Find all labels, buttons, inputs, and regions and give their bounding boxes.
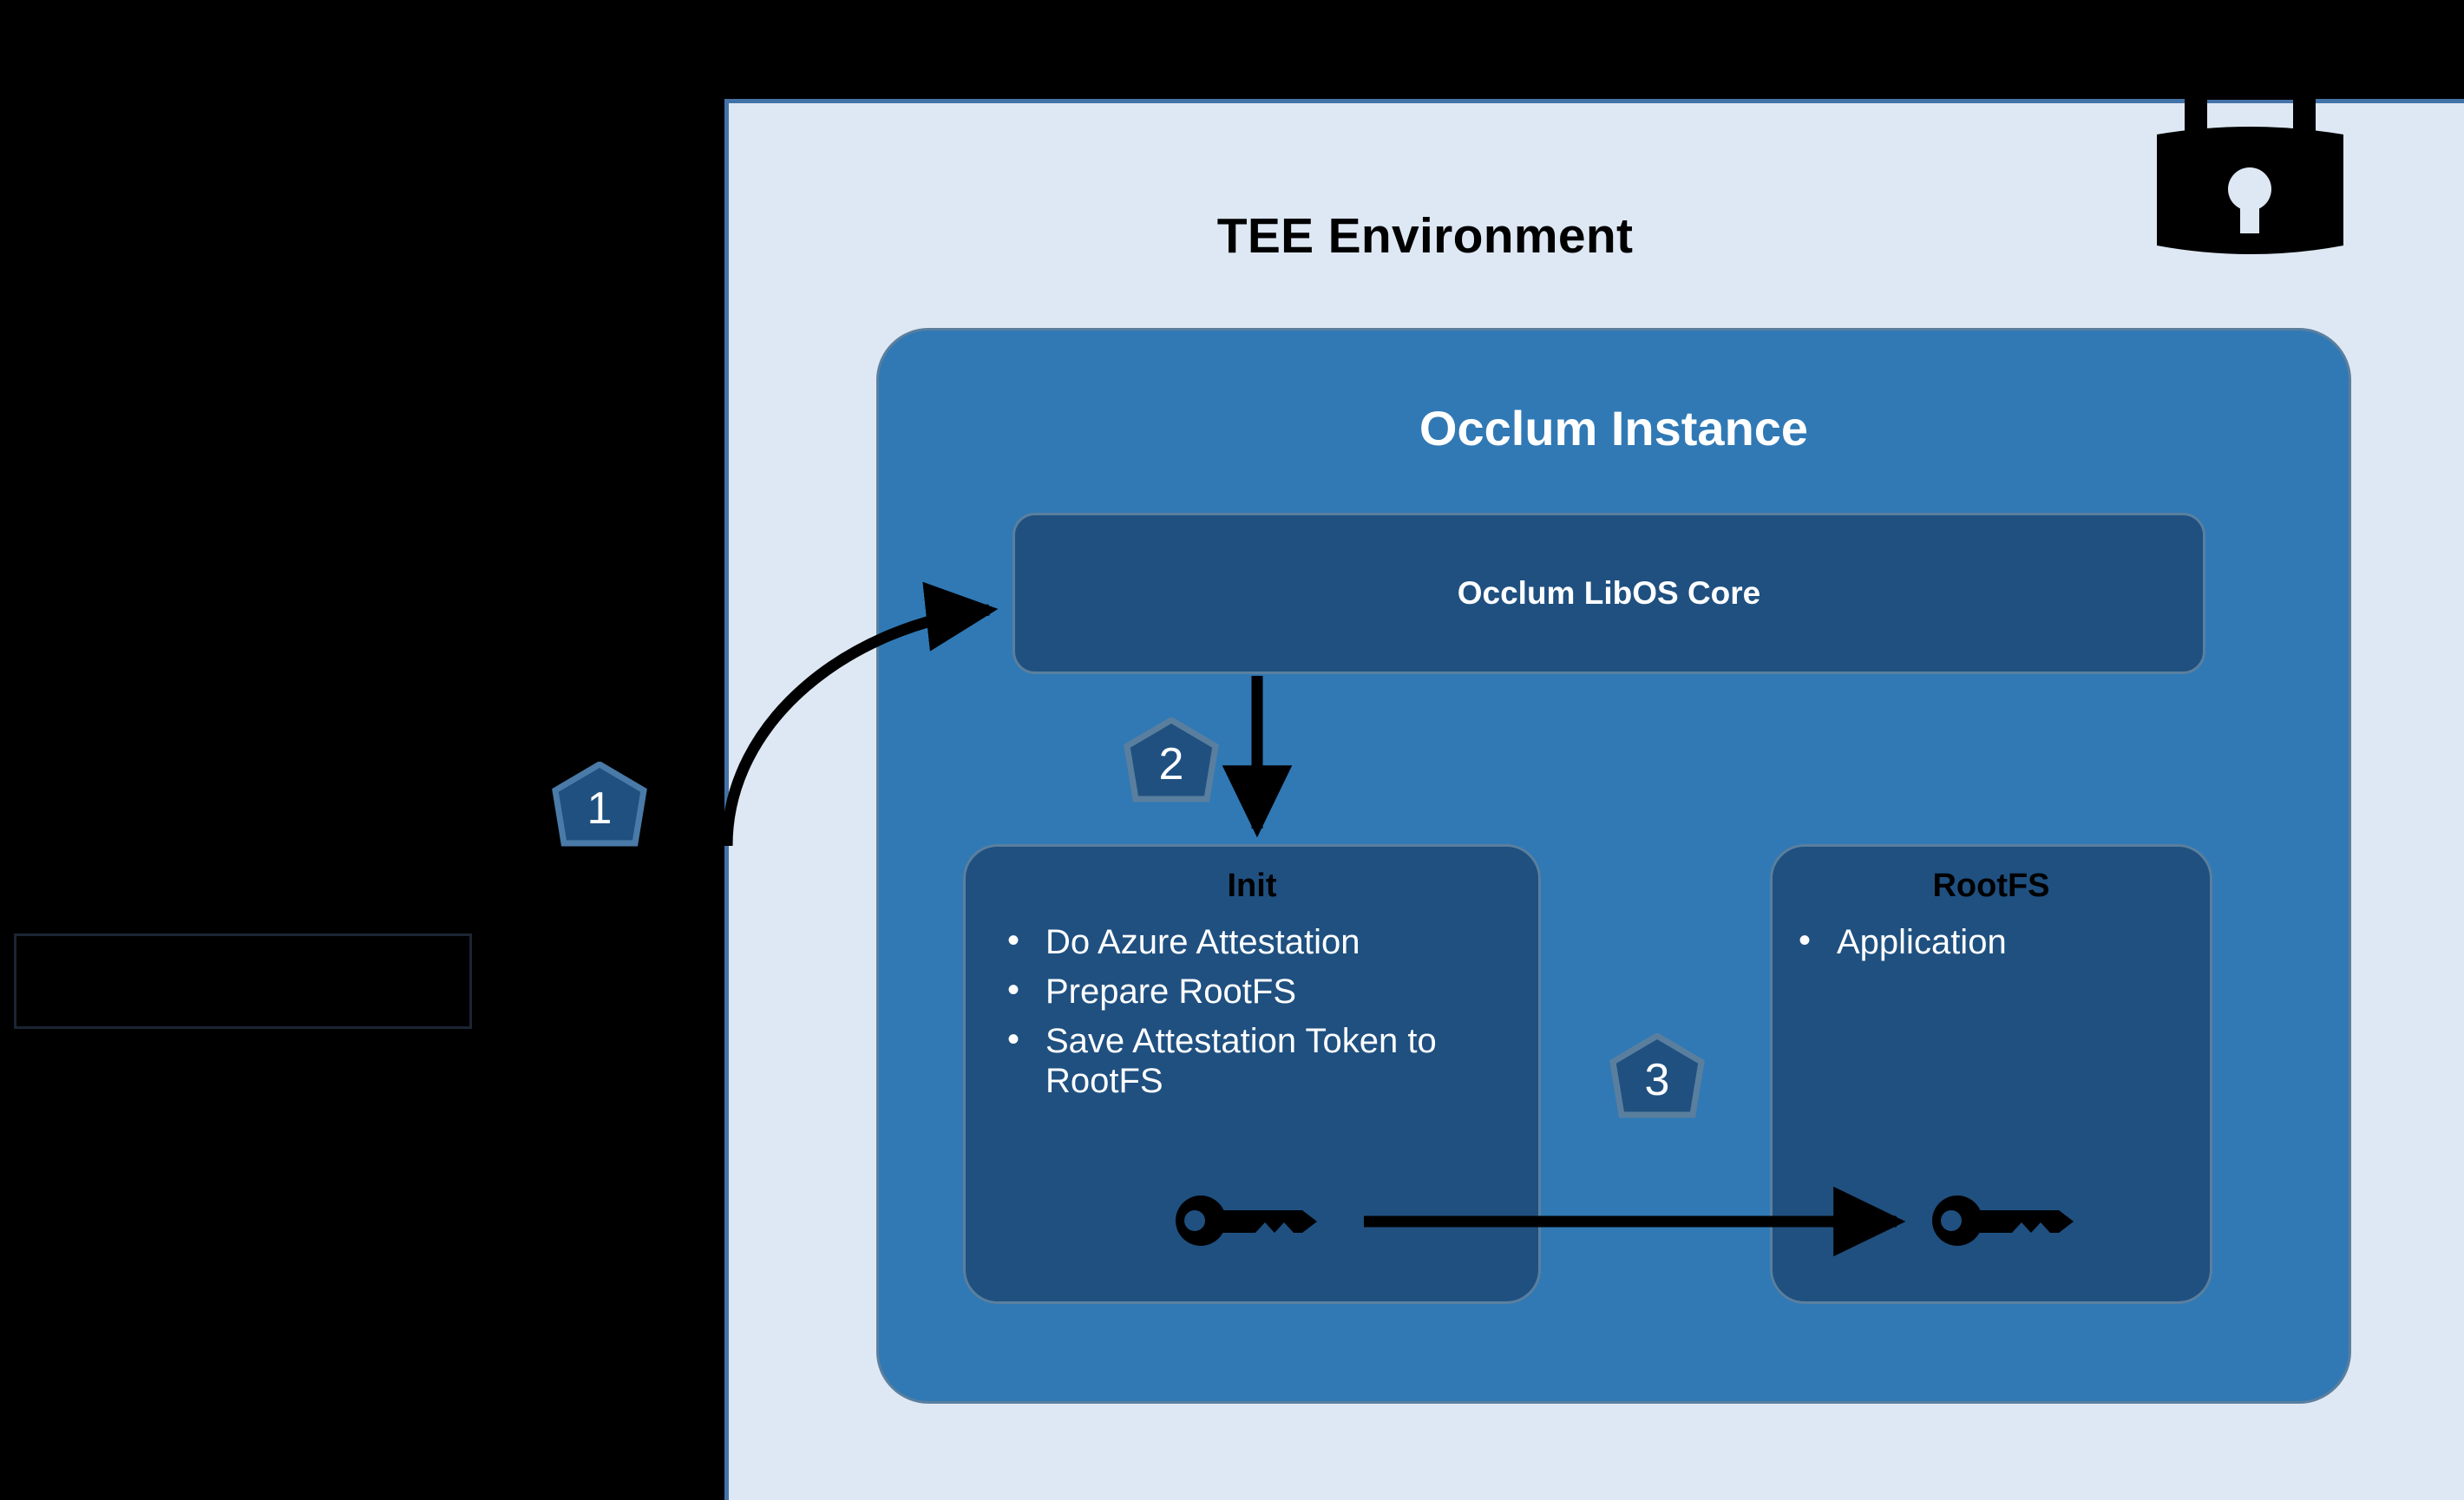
padlock-icon [2157, 48, 2343, 260]
step-badge-label: 1 [548, 762, 651, 859]
rootfs-bullet-list: Application [1773, 922, 2210, 962]
init-bullet-list: Do Azure Attestation Prepare RootFS Save… [966, 922, 1538, 1101]
key-icon [1932, 1195, 2088, 1246]
list-item: Do Azure Attestation [1000, 922, 1538, 962]
step-badge-label: 2 [1120, 717, 1222, 815]
key-icon [1176, 1195, 1332, 1246]
tee-environment-title: TEE Environment [724, 207, 2126, 265]
step-badge-2: 2 [1120, 717, 1222, 815]
occlum-instance-title: Occlum Instance [879, 400, 2349, 456]
occlum-libos-core-box: Occlum LibOS Core [1012, 513, 2205, 674]
list-item: Save Attestation Token to RootFS [1000, 1021, 1538, 1101]
step-badge-label: 3 [1606, 1033, 1708, 1130]
occlum-libos-core-label: Occlum LibOS Core [1458, 575, 1761, 612]
empty-placeholder-rect [14, 933, 472, 1029]
step-badge-3: 3 [1606, 1033, 1708, 1130]
tee-title-wrap: TEE Environment [724, 99, 2126, 220]
list-item: Prepare RootFS [1000, 972, 1538, 1012]
init-title: Init [966, 868, 1538, 905]
diagram-canvas: TEE Environment Occlum Instance Occlum L… [0, 0, 2464, 1500]
list-item: Application [1792, 922, 2210, 962]
step-badge-1: 1 [548, 762, 651, 859]
rootfs-title: RootFS [1773, 868, 2210, 905]
